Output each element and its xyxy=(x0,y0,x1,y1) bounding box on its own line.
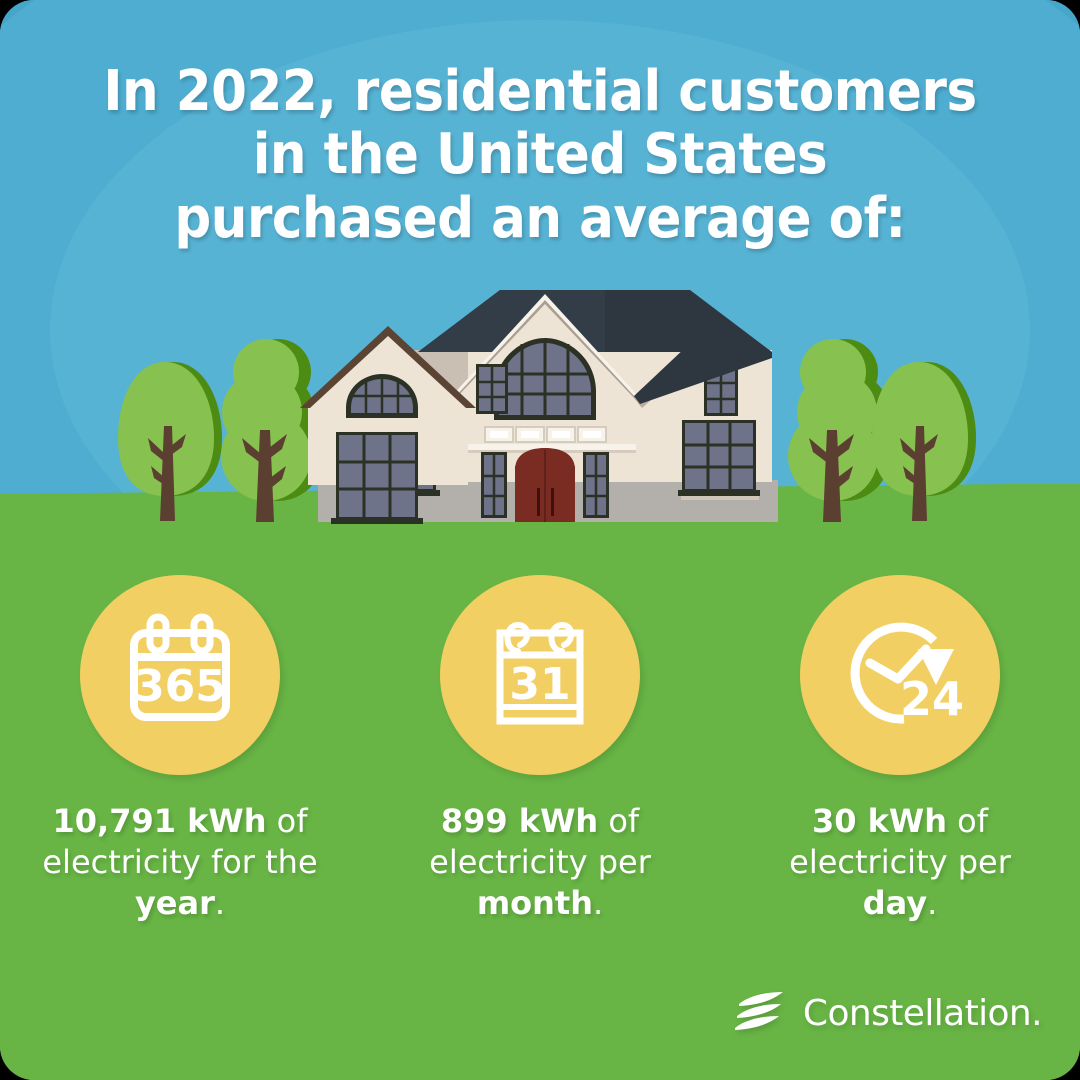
house-illustration xyxy=(300,280,790,530)
stat-yearly-value: 10,791 kWh xyxy=(53,802,267,840)
calendar-icon-value: 365 xyxy=(134,661,226,712)
infographic-stage: In 2022, residential customers in the Un… xyxy=(0,0,1080,1080)
stat-monthly-period: month xyxy=(477,884,593,922)
stat-daily-circle: 24 xyxy=(800,575,1000,775)
stat-daily-caption: 30 kWh of electricity per day. xyxy=(750,801,1050,924)
stat-yearly: 365 10,791 kWh of electricity for the ye… xyxy=(0,575,360,955)
stat-yearly-circle: 365 xyxy=(80,575,280,775)
stat-monthly-circle: 31 xyxy=(440,575,640,775)
calendar-icon: 365 xyxy=(114,609,246,741)
constellation-swoosh-icon xyxy=(735,992,787,1034)
clock-arrow-icon-value: 24 xyxy=(900,672,964,726)
brand-logo[interactable]: Constellation. xyxy=(735,992,1042,1034)
stat-monthly-text-2: . xyxy=(593,884,603,922)
stat-yearly-text-2: . xyxy=(215,884,225,922)
infographic-card: In 2022, residential customers in the Un… xyxy=(0,0,1080,1080)
clock-arrow-icon: 24 xyxy=(830,605,970,745)
stat-yearly-period: year xyxy=(135,884,215,922)
stat-monthly-caption: 899 kWh of electricity per month. xyxy=(390,801,690,924)
tear-off-calendar-icon-value: 31 xyxy=(509,659,570,710)
stats-row: 365 10,791 kWh of electricity for the ye… xyxy=(0,575,1080,955)
stat-daily-text-2: . xyxy=(927,884,937,922)
stat-daily: 24 30 kWh of electricity per day. xyxy=(720,575,1080,955)
stat-yearly-caption: 10,791 kWh of electricity for the year. xyxy=(30,801,330,924)
stat-daily-period: day xyxy=(863,884,927,922)
brand-logo-text: Constellation. xyxy=(803,993,1042,1034)
tree-right-outer xyxy=(872,358,982,528)
stat-monthly-value: 899 kWh xyxy=(441,802,598,840)
page-title: In 2022, residential customers in the Un… xyxy=(43,60,1037,250)
tear-off-calendar-icon: 31 xyxy=(474,609,606,741)
stat-daily-value: 30 kWh xyxy=(812,802,947,840)
stat-monthly: 31 899 kWh of electricity per month. xyxy=(360,575,720,955)
